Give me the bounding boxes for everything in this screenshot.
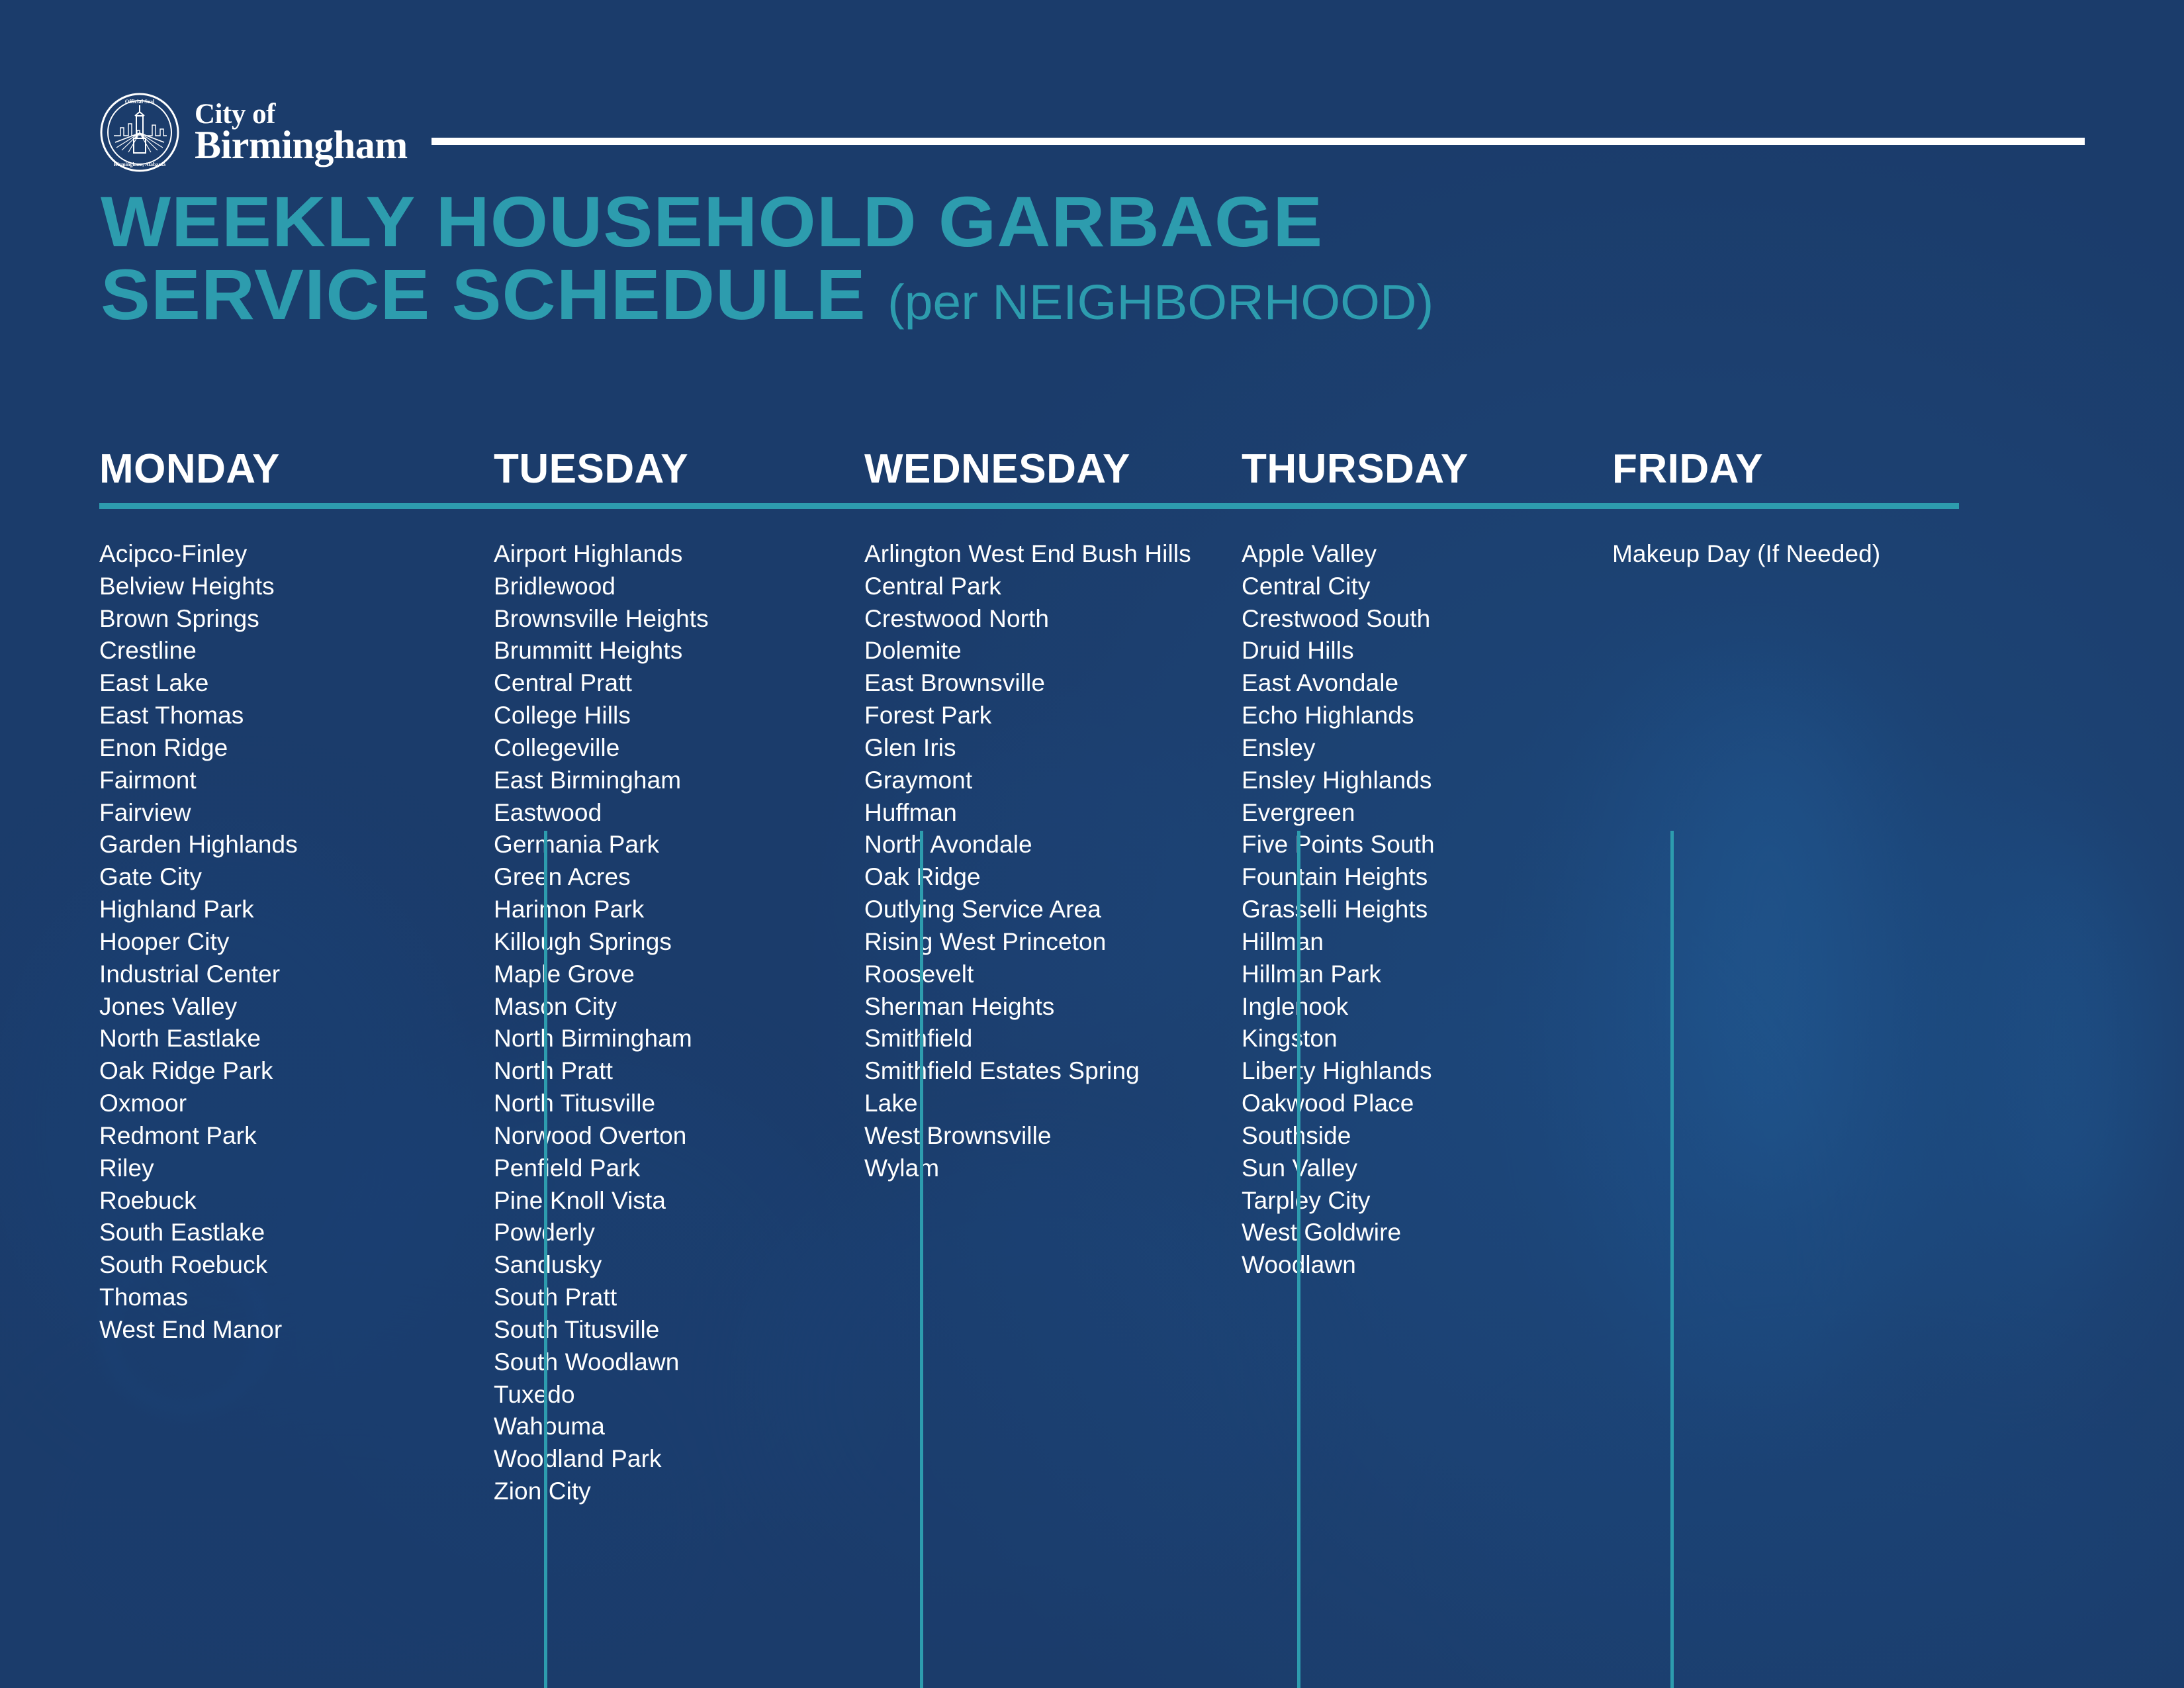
- neighborhood-item: North Eastlake: [99, 1023, 447, 1055]
- neighborhood-item: Eastwood: [494, 797, 818, 829]
- neighborhood-item: Collegeville: [494, 732, 818, 765]
- column-divider: [920, 831, 923, 1688]
- day-header-rule: [841, 503, 1218, 509]
- neighborhood-item: Liberty Highlands: [1242, 1055, 1566, 1088]
- neighborhood-item: South Pratt: [494, 1282, 818, 1314]
- neighborhood-item: East Lake: [99, 667, 447, 700]
- neighborhood-item: North Pratt: [494, 1055, 818, 1088]
- neighborhood-item: Fairview: [99, 797, 447, 829]
- neighborhood-item: East Thomas: [99, 700, 447, 732]
- neighborhood-item: Acipco-Finley: [99, 538, 447, 571]
- neighborhood-item: Thomas: [99, 1282, 447, 1314]
- neighborhood-item: Apple Valley: [1242, 538, 1566, 571]
- neighborhood-item: Belview Heights: [99, 571, 447, 603]
- neighborhood-item: West End Manor: [99, 1314, 447, 1346]
- neighborhood-item: Enon Ridge: [99, 732, 447, 765]
- neighborhood-item: Smithfield Estates Spring Lake: [864, 1055, 1195, 1120]
- neighborhood-item: Gate City: [99, 861, 447, 894]
- neighborhood-item: Brownsville Heights: [494, 603, 818, 635]
- city-seal-icon: Official Seal Birmingham, Alabama: [99, 92, 180, 173]
- neighborhood-item: Airport Highlands: [494, 538, 818, 571]
- neighborhood-item: North Avondale: [864, 829, 1195, 861]
- neighborhood-item: Huffman: [864, 797, 1195, 829]
- neighborhood-item: Bridlewood: [494, 571, 818, 603]
- neighborhood-item: Oxmoor: [99, 1088, 447, 1120]
- neighborhood-item: Germania Park: [494, 829, 818, 861]
- column-divider: [1297, 831, 1300, 1688]
- neighborhood-item: East Brownsville: [864, 667, 1195, 700]
- neighborhood-item: West Goldwire: [1242, 1217, 1566, 1249]
- neighborhood-item: Oakwood Place: [1242, 1088, 1566, 1120]
- neighborhood-item: Redmont Park: [99, 1120, 447, 1152]
- neighborhood-item: Inglenook: [1242, 991, 1566, 1023]
- neighborhood-item: Echo Highlands: [1242, 700, 1566, 732]
- city-wordmark: City of Birmingham: [195, 101, 408, 164]
- neighborhood-item: Highland Park: [99, 894, 447, 926]
- neighborhood-item: Oak Ridge: [864, 861, 1195, 894]
- neighborhood-item: Kingston: [1242, 1023, 1566, 1055]
- neighborhood-list-thursday: Apple ValleyCentral CityCrestwood SouthD…: [1242, 538, 1566, 1282]
- title-line-2: SERVICE SCHEDULE (per NEIGHBORHOOD): [101, 258, 1959, 331]
- day-header-rule: [470, 503, 841, 509]
- title-subtitle: (per NEIGHBORHOOD): [887, 275, 1433, 330]
- column-divider: [544, 831, 547, 1688]
- day-column-tuesday: TUESDAY Airport HighlandsBridlewoodBrown…: [470, 410, 841, 1508]
- neighborhood-item: Oak Ridge Park: [99, 1055, 447, 1088]
- neighborhood-item: Norwood Overton: [494, 1120, 818, 1152]
- neighborhood-item: Southside: [1242, 1120, 1566, 1152]
- neighborhood-item: South Titusville: [494, 1314, 818, 1346]
- neighborhood-list-monday: Acipco-FinleyBelview HeightsBrown Spring…: [99, 538, 447, 1346]
- neighborhood-item: Jones Valley: [99, 991, 447, 1023]
- neighborhood-item: Brummitt Heights: [494, 635, 818, 667]
- neighborhood-list-wednesday: Arlington West End Bush HillsCentral Par…: [864, 538, 1195, 1185]
- neighborhood-item: Brown Springs: [99, 603, 447, 635]
- neighborhood-item: Hooper City: [99, 926, 447, 959]
- neighborhood-item: Graymont: [864, 765, 1195, 797]
- neighborhood-item: College Hills: [494, 700, 818, 732]
- neighborhood-item: Woodlawn: [1242, 1249, 1566, 1282]
- neighborhood-item: Central Pratt: [494, 667, 818, 700]
- neighborhood-item: South Eastlake: [99, 1217, 447, 1249]
- neighborhood-list-tuesday: Airport HighlandsBridlewoodBrownsville H…: [494, 538, 818, 1508]
- neighborhood-item: Industrial Center: [99, 959, 447, 991]
- neighborhood-item: Forest Park: [864, 700, 1195, 732]
- neighborhood-item: Smithfield: [864, 1023, 1195, 1055]
- day-header-rule: [1588, 503, 1959, 509]
- neighborhood-item: Mason City: [494, 991, 818, 1023]
- neighborhood-item: Roebuck: [99, 1185, 447, 1217]
- day-header-tuesday: TUESDAY: [494, 410, 818, 490]
- neighborhood-item: Hillman: [1242, 926, 1566, 959]
- day-column-friday: FRIDAY Makeup Day (If Needed): [1588, 410, 1959, 571]
- neighborhood-item: Sherman Heights: [864, 991, 1195, 1023]
- day-header-monday: MONDAY: [99, 410, 447, 490]
- neighborhood-list-friday: Makeup Day (If Needed): [1612, 538, 1936, 571]
- neighborhood-item: Roosevelt: [864, 959, 1195, 991]
- neighborhood-item: Maple Grove: [494, 959, 818, 991]
- neighborhood-item: Riley: [99, 1152, 447, 1185]
- neighborhood-item: Garden Highlands: [99, 829, 447, 861]
- neighborhood-item: Wahouma: [494, 1411, 818, 1443]
- header-divider-rule: [432, 138, 2085, 145]
- title-line-2-main: SERVICE SCHEDULE: [101, 254, 866, 334]
- neighborhood-item: Harimon Park: [494, 894, 818, 926]
- day-column-wednesday: WEDNESDAY Arlington West End Bush HillsC…: [841, 410, 1218, 1185]
- neighborhood-item: Hillman Park: [1242, 959, 1566, 991]
- backdrop-shape: [1999, 861, 2138, 1231]
- wordmark-line-2: Birmingham: [195, 127, 408, 164]
- neighborhood-item: Killough Springs: [494, 926, 818, 959]
- seal-top-text: Official Seal: [125, 98, 155, 105]
- neighborhood-item: Crestline: [99, 635, 447, 667]
- seal-bottom-text: Birmingham, Alabama: [114, 162, 165, 167]
- neighborhood-item: Zion City: [494, 1476, 818, 1508]
- neighborhood-item: Penfield Park: [494, 1152, 818, 1185]
- neighborhood-item: Crestwood North: [864, 603, 1195, 635]
- neighborhood-item: Pine Knoll Vista: [494, 1185, 818, 1217]
- neighborhood-item: Sandusky: [494, 1249, 818, 1282]
- neighborhood-item: Tarpley City: [1242, 1185, 1566, 1217]
- neighborhood-item: Evergreen: [1242, 797, 1566, 829]
- neighborhood-item: West Brownsville: [864, 1120, 1195, 1152]
- neighborhood-item: North Birmingham: [494, 1023, 818, 1055]
- neighborhood-item: Ensley: [1242, 732, 1566, 765]
- neighborhood-item: Wylam: [864, 1152, 1195, 1185]
- neighborhood-item: Crestwood South: [1242, 603, 1566, 635]
- neighborhood-item: Outlying Service Area: [864, 894, 1195, 926]
- neighborhood-item: Tuxedo: [494, 1379, 818, 1411]
- neighborhood-item: Arlington West End Bush Hills: [864, 538, 1195, 571]
- neighborhood-item: Woodland Park: [494, 1443, 818, 1476]
- neighborhood-item: Fairmont: [99, 765, 447, 797]
- neighborhood-item: North Titusville: [494, 1088, 818, 1120]
- neighborhood-item: Central Park: [864, 571, 1195, 603]
- neighborhood-item: Sun Valley: [1242, 1152, 1566, 1185]
- day-header-rule: [1218, 503, 1588, 509]
- brand-header: Official Seal Birmingham, Alabama City o…: [99, 86, 2085, 179]
- page-title: WEEKLY HOUSEHOLD GARBAGE SERVICE SCHEDUL…: [101, 185, 1888, 331]
- neighborhood-item: Green Acres: [494, 861, 818, 894]
- neighborhood-item: South Roebuck: [99, 1249, 447, 1282]
- neighborhood-item: Makeup Day (If Needed): [1612, 538, 1936, 571]
- neighborhood-item: Fountain Heights: [1242, 861, 1566, 894]
- neighborhood-item: Central City: [1242, 571, 1566, 603]
- neighborhood-item: East Avondale: [1242, 667, 1566, 700]
- title-line-1: WEEKLY HOUSEHOLD GARBAGE: [101, 185, 1959, 258]
- day-header-friday: FRIDAY: [1612, 410, 1936, 490]
- neighborhood-item: Rising West Princeton: [864, 926, 1195, 959]
- day-column-thursday: THURSDAY Apple ValleyCentral CityCrestwo…: [1218, 410, 1588, 1282]
- column-divider: [1670, 831, 1674, 1688]
- day-header-rule: [99, 503, 470, 509]
- neighborhood-item: Five Points South: [1242, 829, 1566, 861]
- neighborhood-item: South Woodlawn: [494, 1346, 818, 1379]
- day-header-thursday: THURSDAY: [1242, 410, 1566, 490]
- schedule-table: MONDAY Acipco-FinleyBelview HeightsBrown…: [99, 410, 1959, 1508]
- neighborhood-item: Dolemite: [864, 635, 1195, 667]
- neighborhood-item: Grasselli Heights: [1242, 894, 1566, 926]
- neighborhood-item: Ensley Highlands: [1242, 765, 1566, 797]
- neighborhood-item: Glen Iris: [864, 732, 1195, 765]
- neighborhood-item: Powderly: [494, 1217, 818, 1249]
- day-column-monday: MONDAY Acipco-FinleyBelview HeightsBrown…: [99, 410, 470, 1346]
- neighborhood-item: East Birmingham: [494, 765, 818, 797]
- day-header-wednesday: WEDNESDAY: [864, 410, 1195, 490]
- neighborhood-item: Druid Hills: [1242, 635, 1566, 667]
